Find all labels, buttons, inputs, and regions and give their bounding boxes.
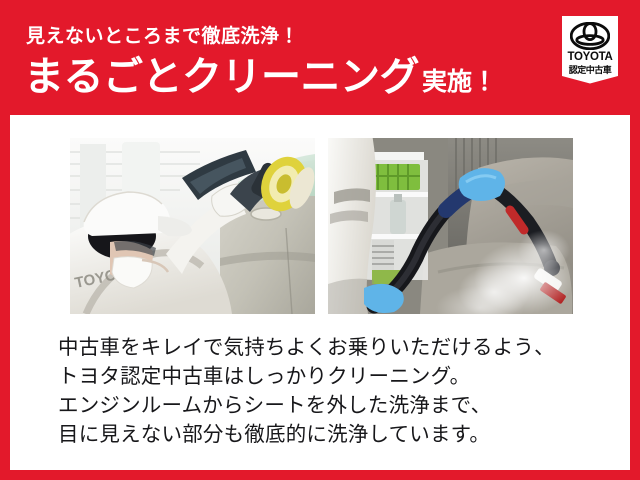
- photo-interior-steam-cleaning: [328, 138, 573, 314]
- logo-red-banner-shape: [562, 76, 618, 98]
- body-line-2: トヨタ認定中古車はしっかりクリーニング。: [58, 362, 598, 391]
- toyota-wordmark-text: TOYOTA: [562, 52, 618, 64]
- body-line-3: エンジンルームからシートを外した洗浄まで、: [58, 391, 598, 420]
- toyota-certified-used-car-logo: TOYOTA 認定中古車: [562, 16, 618, 98]
- toyota-certification-text: 認定中古車: [562, 66, 618, 75]
- body-line-4: 目に見えない部分も徹底的に洗浄しています。: [58, 420, 598, 449]
- subheadline-text: 見えないところまで徹底洗浄！: [26, 27, 299, 46]
- toyota-emblem-icon: [570, 22, 610, 50]
- photo-interior-steam-cleaning-image: [328, 138, 573, 314]
- headline-main-text: まるごとクリーニング: [24, 57, 419, 97]
- photo-exterior-polishing: TOYOTA: [70, 138, 315, 314]
- advertisement-banner: 見えないところまで徹底洗浄！ まるごとクリーニング 実施！ TOYOTA 認定中…: [0, 0, 640, 480]
- photo-exterior-polishing-image: TOYOTA: [70, 138, 315, 314]
- body-copy: 中古車をキレイで気持ちよくお乗りいただけるよう、 トヨタ認定中古車はしっかりクリ…: [58, 333, 598, 449]
- photo-row: TOYOTA: [70, 138, 573, 314]
- header-band: 見えないところまで徹底洗浄！ まるごとクリーニング 実施！ TOYOTA 認定中…: [0, 0, 640, 115]
- body-line-1: 中古車をキレイで気持ちよくお乗りいただけるよう、: [58, 333, 598, 362]
- content-panel: TOYOTA: [10, 115, 630, 470]
- headline-group: まるごとクリーニング 実施！: [24, 57, 497, 97]
- headline-suffix-text: 実施！: [422, 70, 497, 95]
